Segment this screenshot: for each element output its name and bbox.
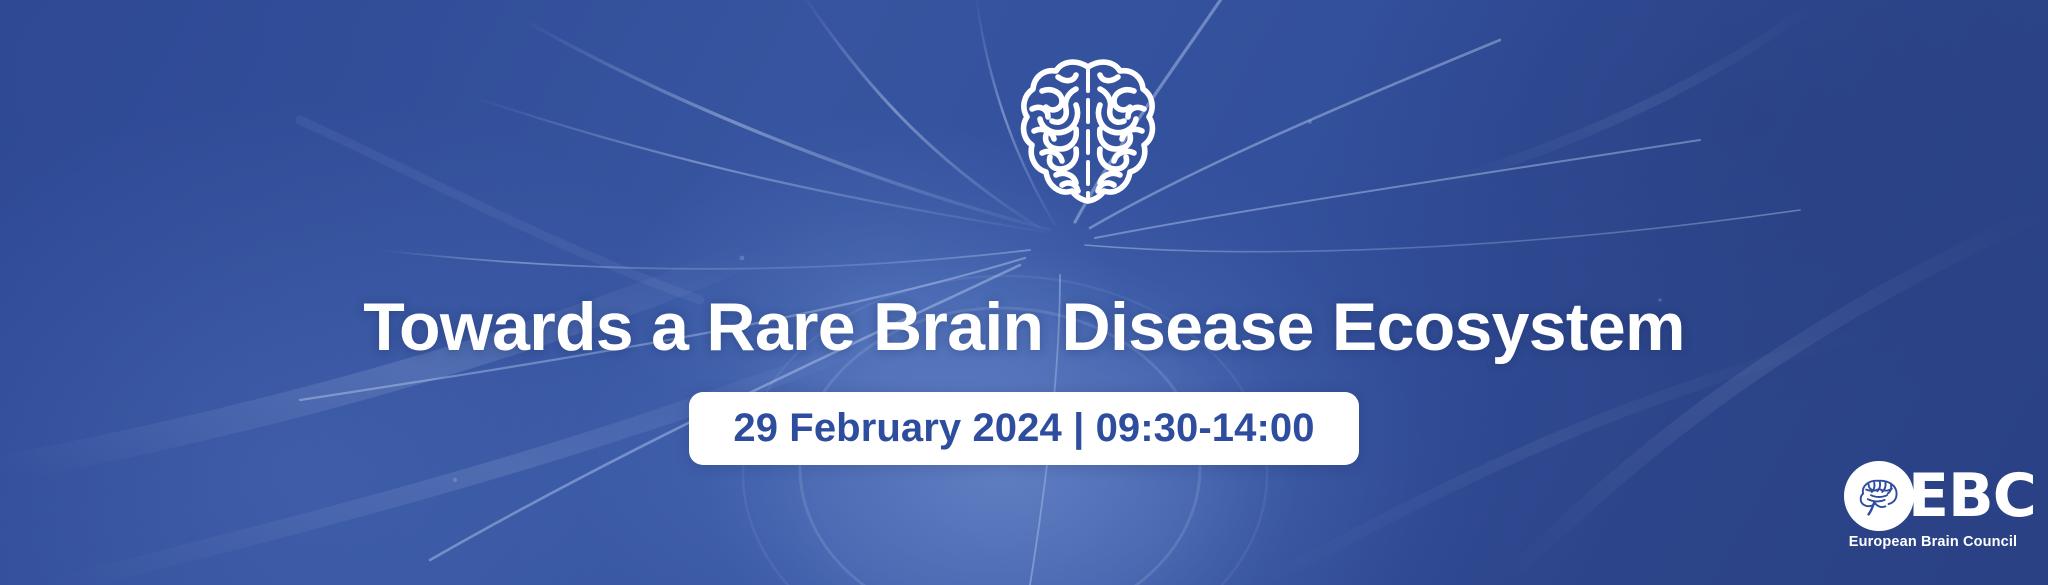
date-pill-container: 29 February 2024 | 09:30-14:00 xyxy=(0,392,2048,465)
ebc-logo[interactable]: EBC European Brain Council xyxy=(1838,459,2028,567)
ebc-logo-lockup: EBC xyxy=(1838,459,2028,533)
brain-profile-icon xyxy=(1855,476,1903,516)
ebc-acronym: EBC xyxy=(1908,466,2036,526)
ebc-logo-circle xyxy=(1844,461,1914,531)
brain-outline-icon xyxy=(1018,57,1158,209)
ebc-full-name: European Brain Council xyxy=(1838,534,2028,550)
event-banner: Towards a Rare Brain Disease Ecosystem 2… xyxy=(0,0,2048,585)
banner-title: Towards a Rare Brain Disease Ecosystem xyxy=(0,290,2048,365)
event-date-time-badge: 29 February 2024 | 09:30-14:00 xyxy=(689,392,1358,465)
